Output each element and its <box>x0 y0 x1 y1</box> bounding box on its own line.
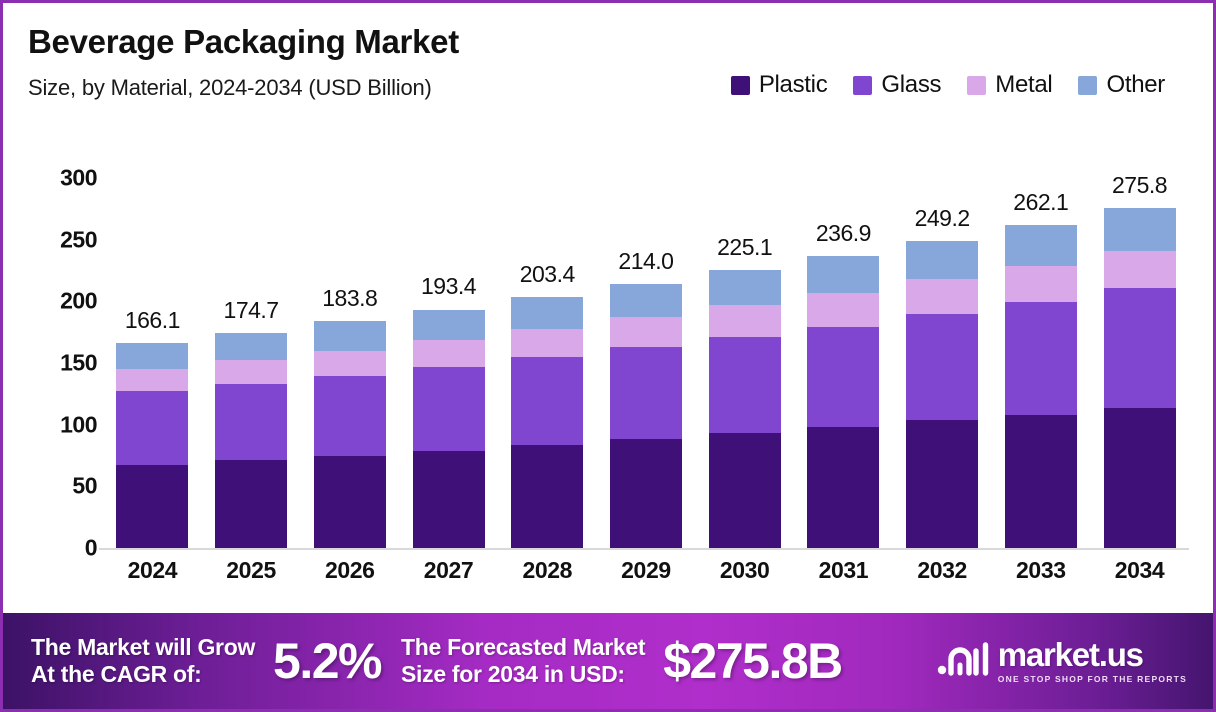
y-axis-tick: 300 <box>60 165 97 192</box>
bar-segment-other[interactable] <box>807 256 879 293</box>
bar-stack <box>413 309 485 548</box>
bar-segment-metal[interactable] <box>314 351 386 376</box>
x-axis-tick: 2031 <box>802 557 885 584</box>
bar-segment-metal[interactable] <box>116 369 188 391</box>
bar-total-label: 174.7 <box>224 297 279 324</box>
y-axis-tick: 150 <box>60 350 97 377</box>
bar-stack <box>314 321 386 548</box>
plot-area: 300250200150100500 166.1174.7183.8193.42… <box>3 115 1216 615</box>
bar-stack <box>610 284 682 548</box>
legend-item-plastic[interactable]: Plastic <box>731 71 828 99</box>
bar-segment-other[interactable] <box>511 297 583 329</box>
bar-group[interactable]: 174.7 <box>210 115 293 548</box>
bar-segment-metal[interactable] <box>1104 251 1176 288</box>
bar-segment-metal[interactable] <box>215 360 287 384</box>
bar-total-label: 203.4 <box>520 261 575 288</box>
x-axis-tick: 2024 <box>111 557 194 584</box>
bar-segment-plastic[interactable] <box>413 451 485 548</box>
legend-label: Glass <box>881 71 941 99</box>
bar-total-label: 262.1 <box>1013 189 1068 216</box>
bar-segment-plastic[interactable] <box>610 439 682 548</box>
legend-item-other[interactable]: Other <box>1078 71 1165 99</box>
bar-stack <box>511 297 583 548</box>
bar-segment-plastic[interactable] <box>215 460 287 548</box>
infographic-root: Beverage Packaging Market Size, by Mater… <box>0 0 1216 712</box>
x-axis-tick: 2025 <box>210 557 293 584</box>
bar-group[interactable]: 183.8 <box>308 115 391 548</box>
bar-group[interactable]: 262.1 <box>999 115 1082 548</box>
chart-legend: PlasticGlassMetalOther <box>731 71 1165 99</box>
bar-group[interactable]: 236.9 <box>802 115 885 548</box>
chart-header: Beverage Packaging Market Size, by Mater… <box>3 3 1213 115</box>
bar-stack <box>906 241 978 548</box>
bar-segment-plastic[interactable] <box>116 465 188 548</box>
page-title: Beverage Packaging Market <box>28 23 459 61</box>
bar-segment-glass[interactable] <box>413 367 485 451</box>
forecast-value: $275.8B <box>663 632 842 690</box>
page-subtitle: Size, by Material, 2024-2034 (USD Billio… <box>28 75 432 101</box>
market-us-logo[interactable]: market.us ONE STOP SHOP FOR THE REPORTS <box>937 638 1195 684</box>
bar-total-label: 249.2 <box>915 205 970 232</box>
x-axis-tick: 2032 <box>901 557 984 584</box>
bar-total-label: 275.8 <box>1112 172 1167 199</box>
logo-tagline: ONE STOP SHOP FOR THE REPORTS <box>998 674 1187 684</box>
bar-segment-metal[interactable] <box>413 340 485 367</box>
y-axis-tick: 250 <box>60 226 97 253</box>
bar-segment-metal[interactable] <box>709 305 781 337</box>
bar-stack <box>1005 225 1077 548</box>
forecast-label: The Forecasted MarketSize for 2034 in US… <box>401 634 645 688</box>
bar-segment-other[interactable] <box>215 333 287 361</box>
bar-total-label: 193.4 <box>421 273 476 300</box>
bar-segment-metal[interactable] <box>807 293 879 326</box>
legend-item-metal[interactable]: Metal <box>967 71 1052 99</box>
x-axis-tick: 2028 <box>506 557 589 584</box>
bar-total-label: 183.8 <box>322 285 377 312</box>
footer-banner: The Market will GrowAt the CAGR of: 5.2%… <box>3 613 1213 709</box>
x-axis-tick: 2029 <box>604 557 687 584</box>
bar-segment-other[interactable] <box>709 270 781 305</box>
bar-segment-other[interactable] <box>314 321 386 350</box>
bar-stack <box>807 256 879 548</box>
x-axis: 2024202520262027202820292030203120322033… <box>103 557 1189 584</box>
y-axis-tick: 0 <box>85 535 97 562</box>
legend-label: Metal <box>995 71 1052 99</box>
x-axis-tick: 2026 <box>308 557 391 584</box>
cagr-value: 5.2% <box>273 632 381 690</box>
bar-segment-glass[interactable] <box>906 314 978 420</box>
bar-segment-other[interactable] <box>610 284 682 317</box>
bar-total-label: 166.1 <box>125 307 180 334</box>
legend-swatch-other <box>1078 76 1097 95</box>
bar-total-label: 225.1 <box>717 234 772 261</box>
bar-segment-plastic[interactable] <box>511 445 583 548</box>
bar-segment-other[interactable] <box>906 241 978 280</box>
bar-stack <box>116 343 188 548</box>
bar-group[interactable]: 166.1 <box>111 115 194 548</box>
bar-segment-metal[interactable] <box>1005 266 1077 302</box>
bar-segment-metal[interactable] <box>610 317 682 347</box>
bar-segment-other[interactable] <box>1005 225 1077 266</box>
bar-segment-glass[interactable] <box>807 327 879 427</box>
bar-segment-glass[interactable] <box>511 357 583 445</box>
x-axis-line <box>99 548 1189 550</box>
bar-group[interactable]: 249.2 <box>901 115 984 548</box>
bar-total-label: 214.0 <box>618 248 673 275</box>
bar-segment-glass[interactable] <box>314 376 386 456</box>
bar-segment-other[interactable] <box>116 343 188 369</box>
bar-segment-metal[interactable] <box>906 279 978 314</box>
bar-group[interactable]: 275.8 <box>1098 115 1181 548</box>
bar-segment-glass[interactable] <box>215 384 287 460</box>
legend-swatch-glass <box>853 76 872 95</box>
bar-segment-glass[interactable] <box>1005 302 1077 415</box>
logo-text: market.us ONE STOP SHOP FOR THE REPORTS <box>998 638 1187 684</box>
bar-group[interactable]: 203.4 <box>506 115 589 548</box>
bar-segment-metal[interactable] <box>511 329 583 357</box>
bar-stack <box>215 333 287 548</box>
bar-group[interactable]: 225.1 <box>703 115 786 548</box>
bar-segment-glass[interactable] <box>116 391 188 464</box>
y-axis-tick: 50 <box>72 473 97 500</box>
bar-segment-plastic[interactable] <box>709 433 781 548</box>
bar-stack <box>1104 208 1176 548</box>
logo-bars-icon <box>937 639 989 684</box>
x-axis-tick: 2034 <box>1098 557 1181 584</box>
bar-total-label: 236.9 <box>816 220 871 247</box>
legend-swatch-plastic <box>731 76 750 95</box>
legend-label: Other <box>1106 71 1165 99</box>
bar-segment-glass[interactable] <box>709 337 781 433</box>
x-axis-tick: 2027 <box>407 557 490 584</box>
bar-segment-other[interactable] <box>1104 208 1176 251</box>
bar-segment-plastic[interactable] <box>807 427 879 548</box>
bar-group[interactable]: 193.4 <box>407 115 490 548</box>
bar-stack <box>709 270 781 548</box>
bar-segment-glass[interactable] <box>610 347 682 439</box>
x-axis-tick: 2033 <box>999 557 1082 584</box>
bar-segment-plastic[interactable] <box>906 420 978 548</box>
legend-item-glass[interactable]: Glass <box>853 71 941 99</box>
cagr-label: The Market will GrowAt the CAGR of: <box>31 634 255 688</box>
bar-series-container: 166.1174.7183.8193.4203.4214.0225.1236.9… <box>103 115 1189 548</box>
bar-segment-plastic[interactable] <box>314 456 386 548</box>
y-axis-tick: 200 <box>60 288 97 315</box>
logo-wordmark: market.us <box>998 638 1187 671</box>
legend-label: Plastic <box>759 71 828 99</box>
bar-group[interactable]: 214.0 <box>604 115 687 548</box>
y-axis-tick: 100 <box>60 411 97 438</box>
legend-swatch-metal <box>967 76 986 95</box>
bar-segment-plastic[interactable] <box>1005 415 1077 548</box>
bar-segment-other[interactable] <box>413 310 485 340</box>
y-axis: 300250200150100500 <box>25 115 97 555</box>
x-axis-tick: 2030 <box>703 557 786 584</box>
bar-segment-glass[interactable] <box>1104 288 1176 408</box>
bar-segment-plastic[interactable] <box>1104 408 1176 548</box>
